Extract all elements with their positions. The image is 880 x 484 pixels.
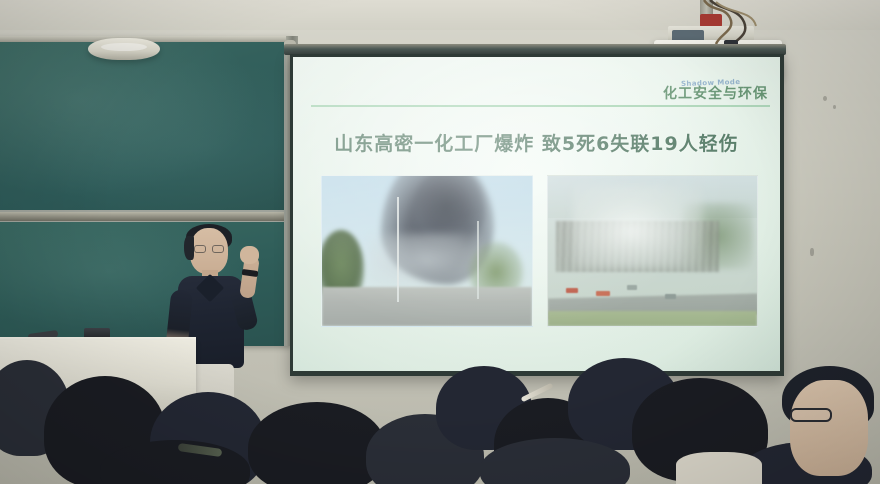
utility-pole [397,197,399,302]
emergency-vehicle [627,285,637,290]
projection-screen-surface: 化工安全与环保 Shadow Mode 山东高密一化工厂爆炸 致5死6失联19人… [293,57,780,371]
emergency-vehicle [596,291,610,296]
aerial-smoke-haze [573,185,703,269]
ceiling-lamp-icon [88,38,160,60]
utility-pole [477,221,479,299]
classroom-scene: 化工安全与环保 Shadow Mode 山东高密一化工厂爆炸 致5死6失联19人… [0,0,880,484]
aerial-grass-verge [548,311,758,326]
student-head [248,402,386,484]
slide-photo-row [321,175,758,327]
road-surface [322,287,532,326]
lecturer-hair-side [184,236,194,260]
projector-cables [690,0,810,48]
wall-mark [823,96,827,101]
student-shirt [676,452,762,484]
wall-mark [810,248,814,256]
wall-mark [833,105,836,109]
lecturer-glasses-icon [194,245,226,253]
photo-aerial-destroyed-site [547,175,759,327]
student-glasses-icon [790,408,832,422]
presentation-slide: 化工安全与环保 Shadow Mode 山东高密一化工厂爆炸 致5死6失联19人… [293,57,780,371]
chalkboard-upper-panel [0,42,284,210]
slide-header: 化工安全与环保 Shadow Mode [663,83,768,103]
emergency-vehicle [566,288,578,293]
emergency-vehicle [665,294,676,299]
student-face-right [790,380,868,476]
lecturer-raised-fist [240,246,259,264]
chalk-tray [0,212,284,221]
slide-title: 山东高密一化工厂爆炸 致5死6失联19人轻伤 [293,129,780,156]
photo-explosion-smoke-plume [321,175,533,327]
slide-divider-rule [311,105,770,107]
smoke-ground-haze [368,233,485,287]
projection-screen: 化工安全与环保 Shadow Mode 山东高密一化工厂爆炸 致5死6失联19人… [290,54,784,376]
